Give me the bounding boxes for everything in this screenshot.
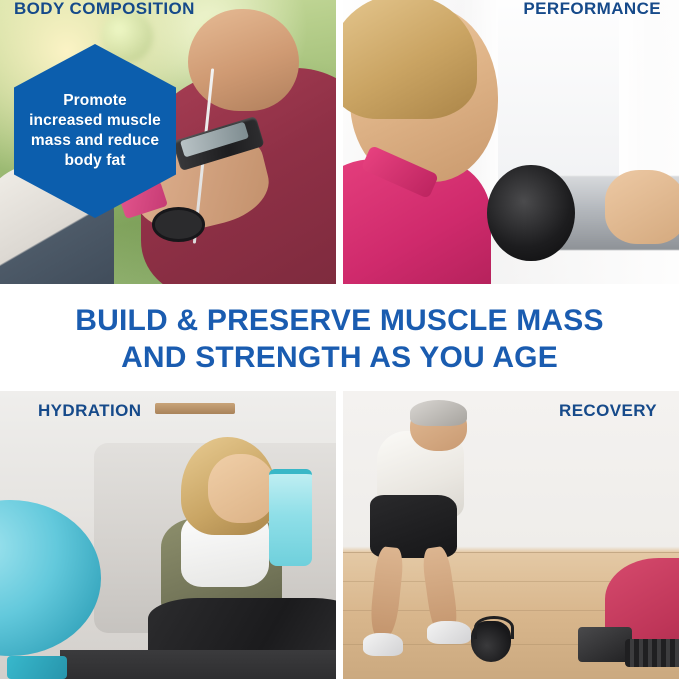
callout-text: Promote increased muscle mass and reduce… <box>15 91 175 172</box>
panel-hydration: Improve hydration levels for optimal mus… <box>0 391 336 679</box>
panel-performance: Increase muscle energy, strength, power … <box>343 0 679 284</box>
resistance-coil <box>625 639 679 668</box>
small-dumbbell <box>7 656 67 679</box>
sneaker-left <box>363 633 403 656</box>
label-recovery: RECOVERY <box>559 401 657 421</box>
dumbbell-weight <box>487 165 574 262</box>
photo-woman-drinking-water <box>0 391 336 679</box>
figure-hand <box>605 170 679 244</box>
headline-line-1: BUILD & PRESERVE MUSCLE MASS <box>75 303 603 340</box>
figure-leg-left <box>368 545 404 639</box>
page-headline: BUILD & PRESERVE MUSCLE MASS AND STRENGT… <box>0 297 679 383</box>
label-hydration: HYDRATION <box>38 401 141 421</box>
yoga-mat <box>60 650 336 679</box>
sport-watch <box>155 210 202 238</box>
figure-hair <box>343 0 477 119</box>
photo-woman-dumbbell <box>343 0 679 284</box>
wall-shelf <box>155 403 236 415</box>
muscle-health-infographic: Promote increased muscle mass and reduce… <box>0 0 679 679</box>
panel-body-composition: Promote increased muscle mass and reduce… <box>0 0 336 284</box>
figure-head <box>208 454 275 523</box>
label-body-composition: BODY COMPOSITION <box>14 0 195 19</box>
label-performance: PERFORMANCE <box>523 0 661 19</box>
figure-hair <box>410 400 467 426</box>
kettlebell-handle <box>474 616 514 639</box>
panel-recovery: Boost recovery by reducing muscle breakd… <box>343 391 679 679</box>
exercise-ball <box>0 500 101 656</box>
photo-man-resting-after-workout <box>343 391 679 679</box>
figure-head <box>188 9 299 111</box>
headline-line-2: AND STRENGTH AS YOU AGE <box>121 340 558 377</box>
barbell-weight <box>578 627 632 662</box>
water-bottle <box>269 469 313 566</box>
sneaker-right <box>427 621 471 644</box>
